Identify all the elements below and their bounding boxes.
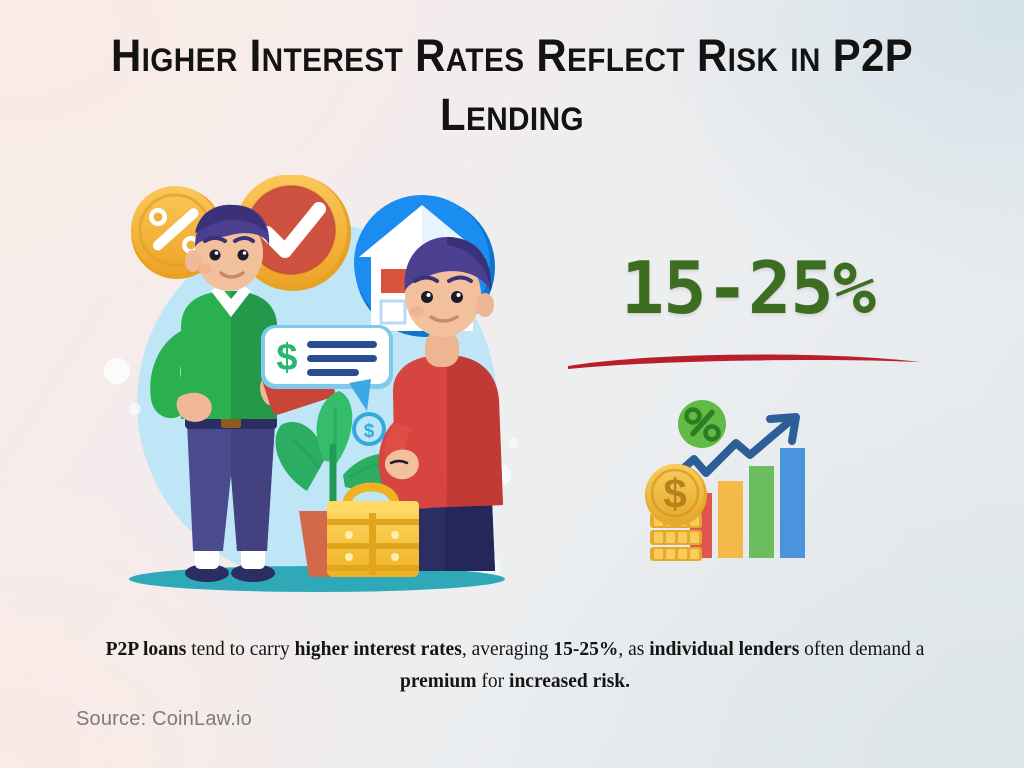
svg-text:$: $ — [364, 421, 375, 442]
chart-bar-2 — [718, 481, 743, 558]
caption-plain: often demand a — [799, 639, 924, 660]
dollar-circle-icon: $ — [352, 412, 386, 446]
svg-text:$: $ — [276, 337, 297, 379]
chart-bar-4 — [780, 448, 805, 558]
source-attribution: Source: CoinLaw.io — [76, 708, 252, 731]
caption-emphasis: individual lenders — [649, 639, 799, 660]
caption-emphasis: higher interest rates — [295, 639, 462, 660]
decor-bubble — [104, 358, 130, 384]
headline-stat: 15-25% — [548, 252, 948, 382]
growth-bar-chart-icon: $ — [632, 393, 832, 573]
stat-underline-stroke — [564, 348, 924, 374]
infographic-canvas: Higher Interest Rates Reflect Risk in P2… — [0, 0, 1024, 768]
caption-emphasis: P2P loans — [106, 639, 187, 660]
lending-illustration: $ $ — [95, 175, 535, 605]
svg-text:$: $ — [663, 470, 686, 517]
dollar-coin-icon: $ — [645, 464, 707, 526]
growth-chart-svg: $ — [632, 393, 832, 573]
decor-bubble — [129, 403, 141, 415]
stat-value: 15-25% — [548, 252, 948, 324]
caption-emphasis: 15-25% — [553, 639, 618, 660]
decor-bubble — [508, 438, 518, 448]
page-title: Higher Interest Rates Reflect Risk in P2… — [103, 26, 921, 145]
caption-plain: , averaging — [462, 639, 554, 660]
caption-plain: tend to carry — [186, 639, 294, 660]
chart-bar-3 — [749, 466, 774, 558]
caption-emphasis: increased risk. — [509, 671, 630, 692]
caption-plain: , as — [618, 639, 649, 660]
illustration-svg: $ $ — [95, 175, 535, 605]
caption-emphasis: premium — [400, 671, 477, 692]
caption-text: P2P loans tend to carry higher interest … — [92, 634, 938, 697]
caption-plain: for — [477, 671, 510, 692]
